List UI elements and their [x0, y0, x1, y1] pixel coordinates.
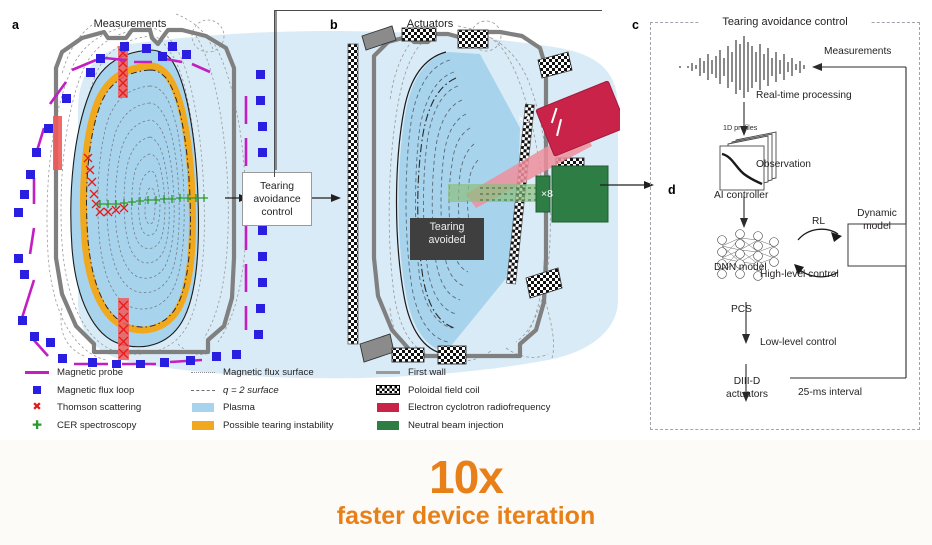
legend-column-1: Magnetic probe Magnetic flux loop ✖ Thom…	[24, 364, 141, 434]
legend-label: Thomson scattering	[57, 402, 141, 413]
legend-label: q = 2 surface	[223, 385, 279, 396]
legend-item-q2-surface: q = 2 surface	[190, 382, 333, 400]
magnetic-probe-line-icon	[24, 371, 50, 374]
high-level-control-label: High-level control	[760, 269, 839, 281]
diii-d-actuators-label-l1: DIII-D	[712, 376, 782, 388]
banner-headline: 10x	[429, 454, 503, 501]
legend-item-plasma: Plasma	[190, 399, 333, 417]
thomson-scattering-x-icon: ✖	[24, 402, 50, 413]
poloidal-field-coil-swatch-icon	[375, 385, 401, 395]
legend-item-thomson-scattering: ✖ Thomson scattering	[24, 399, 141, 417]
cer-spectroscopy-plus-icon: ✚	[24, 419, 50, 431]
legend-item-cer-spectroscopy: ✚ CER spectroscopy	[24, 417, 141, 435]
legend-label: First wall	[408, 367, 446, 378]
realtime-processing-label: Real-time processing	[756, 90, 852, 102]
legend-label: Poloidal field coil	[408, 385, 479, 396]
legend-label: Magnetic flux surface	[223, 367, 314, 378]
pcs-label: PCS	[731, 304, 752, 316]
legend-label: Possible tearing instability	[223, 420, 333, 431]
legend-column-3: First wall Poloidal field coil Electron …	[375, 364, 550, 434]
observation-label: Observation	[756, 159, 811, 171]
electron-cyclotron-radiofrequency-swatch-icon	[375, 403, 401, 412]
diii-d-actuators-label-l2: actuators	[712, 389, 782, 401]
legend-item-first-wall: First wall	[375, 364, 550, 382]
magnetic-flux-loop-square-icon	[24, 386, 50, 394]
plasma-swatch-icon	[190, 403, 216, 412]
panel-c-letter: c	[632, 18, 639, 32]
center-box-line3: control	[253, 206, 300, 219]
neutral-beam-injection-swatch-icon	[375, 421, 401, 430]
magnetic-flux-surface-dotted-icon	[190, 372, 216, 373]
poloidal-field-coil-column	[348, 44, 358, 344]
bottom-banner: 10x faster device iteration	[0, 440, 932, 545]
ecrf-multiplier-label: ×3	[512, 113, 536, 126]
center-box-line2: avoidance	[253, 193, 300, 206]
legend-item-possible-tearing-instability: Possible tearing instability	[190, 417, 333, 435]
legend-item-magnetic-probe: Magnetic probe	[24, 364, 141, 382]
first-wall-line-icon	[375, 371, 401, 374]
possible-tearing-instability-swatch-icon	[190, 421, 216, 430]
dynamic-model-label-l2: model	[848, 221, 906, 233]
center-box-line1: Tearing	[253, 180, 300, 193]
control-loop-diagram	[648, 24, 928, 444]
legend-label: CER spectroscopy	[57, 420, 136, 431]
legend-item-poloidal-field-coil: Poloidal field coil	[375, 382, 550, 400]
legend-label: Magnetic flux loop	[57, 385, 134, 396]
legend-label: Magnetic probe	[57, 367, 123, 378]
tearing-avoided-label-l2: avoided	[410, 234, 484, 247]
low-level-control-label: Low-level control	[760, 337, 836, 349]
panel-b-tokamak-diagram	[330, 8, 620, 368]
legend-item-neutral-beam-injection: Neutral beam injection	[375, 417, 550, 435]
figure-root: a Measurements	[0, 0, 932, 545]
legend-label: Neutral beam injection	[408, 420, 503, 431]
nbi-multiplier-label: ×8	[535, 188, 559, 201]
legend-item-magnetic-flux-loop: Magnetic flux loop	[24, 382, 141, 400]
legend-label: Electron cyclotron radiofrequency	[408, 402, 550, 413]
ecrf-source-box	[536, 81, 620, 157]
one-d-profiles-label: 1D profiles	[723, 124, 757, 132]
dynamic-model-label-l1: Dynamic	[848, 208, 906, 220]
legend-item-magnetic-flux-surface: Magnetic flux surface	[190, 364, 333, 382]
banner-subline: faster device iteration	[337, 502, 595, 531]
q2-surface-dashdot-icon	[190, 390, 216, 391]
measurements-label: Measurements	[824, 46, 891, 58]
legend-item-electron-cyclotron-radiofrequency: Electron cyclotron radiofrequency	[375, 399, 550, 417]
ai-controller-label: AI controller	[714, 190, 768, 202]
legend-label: Plasma	[223, 402, 255, 413]
interval-label: 25-ms interval	[798, 387, 862, 399]
tearing-avoidance-control-box[interactable]: Tearing avoidance control	[242, 172, 312, 226]
dnn-model-label: DNN model	[714, 262, 767, 274]
measurement-waveform	[680, 36, 804, 98]
rl-label: RL	[812, 216, 825, 228]
tearing-avoided-label-l1: Tearing	[410, 221, 484, 234]
nbi-beam	[448, 184, 548, 202]
legend-column-2: Magnetic flux surface q = 2 surface Plas…	[190, 364, 333, 434]
